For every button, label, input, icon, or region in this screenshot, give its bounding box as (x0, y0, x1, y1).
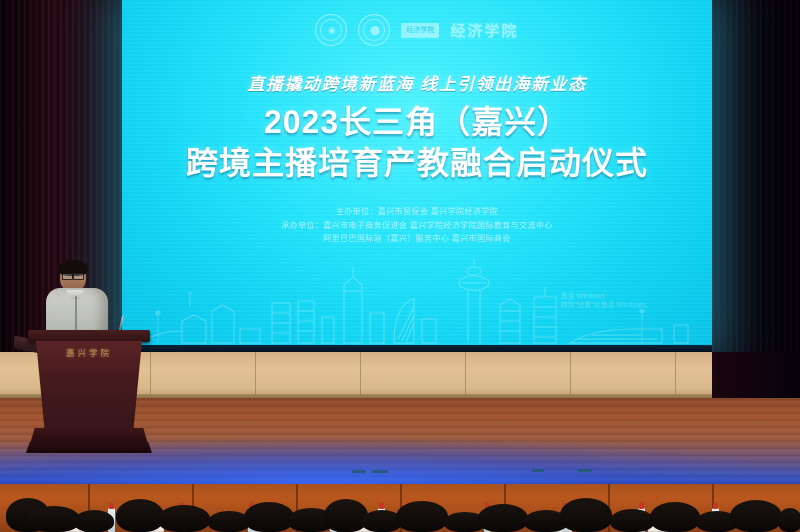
panel-seam (570, 352, 571, 400)
panel-seam (465, 352, 466, 400)
screen-bottom-frame (122, 345, 712, 352)
watermark-line-1: 激活 Windows (561, 292, 652, 301)
audience-head (396, 501, 448, 532)
auditorium-photo: ◉ ⬤ 经济学院 经济学院 直播撬动跨境新蓝海 线上引领出海新业态 2023长三… (0, 0, 800, 532)
podium-base (30, 428, 148, 444)
audience-head (560, 498, 612, 532)
screen-logo-row: ◉ ⬤ 经济学院 经济学院 (122, 10, 712, 50)
audience-head (116, 499, 164, 532)
stage-curtain-right (712, 0, 800, 400)
slide-credits-block: 主办单位：嘉兴市贸促会 嘉兴学院经济学院 承办单位：嘉兴市电子商务促进会 嘉兴学… (122, 205, 712, 246)
audience-head (610, 509, 654, 532)
slide-title-line-2: 跨境主播培育产教融合启动仪式 (122, 145, 712, 183)
floor-marker-tape (352, 470, 366, 473)
audience-head (478, 504, 528, 532)
audience-head (730, 500, 782, 532)
panel-seam (150, 352, 151, 400)
audience-head (158, 505, 210, 532)
podium-front-panel: 嘉兴学院 (36, 341, 142, 429)
credit-line-organizer-2: 阿里巴巴国际站（嘉兴）服务中心 嘉兴市国际商会 (122, 232, 712, 246)
podium: 嘉兴学院 (34, 330, 144, 458)
watermark-line-2: 转到"设置"以激活 Windows。 (561, 301, 652, 310)
audience-head (324, 499, 368, 532)
podium-top (28, 330, 150, 342)
emblem-jiaxing-university-icon: ⬤ (358, 14, 390, 46)
audience-head (74, 510, 114, 532)
floor-marker-tape (532, 469, 544, 472)
slide-headline-block: 直播撬动跨境新蓝海 线上引领出海新业态 2023长三角（嘉兴） 跨境主播培育产教… (122, 70, 712, 183)
wall-panel-right-shadow (712, 352, 800, 400)
logo-wordmark-economics: 经济学院 (450, 20, 518, 41)
windows-activation-watermark: 激活 Windows 转到"设置"以激活 Windows。 (561, 292, 652, 310)
podium-plinth (26, 442, 152, 453)
audience-head (28, 506, 80, 532)
logo-badge: 经济学院 (401, 23, 439, 38)
slide-title-line-1: 2023长三角（嘉兴） (122, 104, 712, 142)
audience-head (244, 502, 294, 532)
panel-seam (675, 352, 676, 400)
glasses-icon (62, 273, 84, 278)
floor-marker-tape (372, 470, 388, 473)
credit-line-host: 主办单位：嘉兴市贸促会 嘉兴学院经济学院 (122, 205, 712, 219)
floor-marker-tape (578, 469, 592, 472)
panel-seam (255, 352, 256, 400)
audience-head (650, 502, 700, 532)
emblem-jiaxing-university-inner: ⬤ (363, 19, 385, 41)
emblem-mofcom-inner: ◉ (320, 19, 342, 41)
credit-line-organizer: 承办单位：嘉兴市电子商务促进会 嘉兴学院经济学院国际教育与交流中心 (122, 219, 712, 233)
projection-screen: ◉ ⬤ 经济学院 经济学院 直播撬动跨境新蓝海 线上引领出海新业态 2023长三… (122, 0, 712, 352)
emblem-mofcom-icon: ◉ (315, 14, 347, 46)
audience-head (778, 508, 800, 532)
audience-row (0, 484, 800, 532)
slide-slogan: 直播撬动跨境新蓝海 线上引领出海新业态 (122, 70, 712, 95)
panel-seam (360, 352, 361, 400)
podium-nameplate: 嘉兴学院 (36, 347, 142, 359)
speaker-shirt-placket (75, 296, 77, 330)
